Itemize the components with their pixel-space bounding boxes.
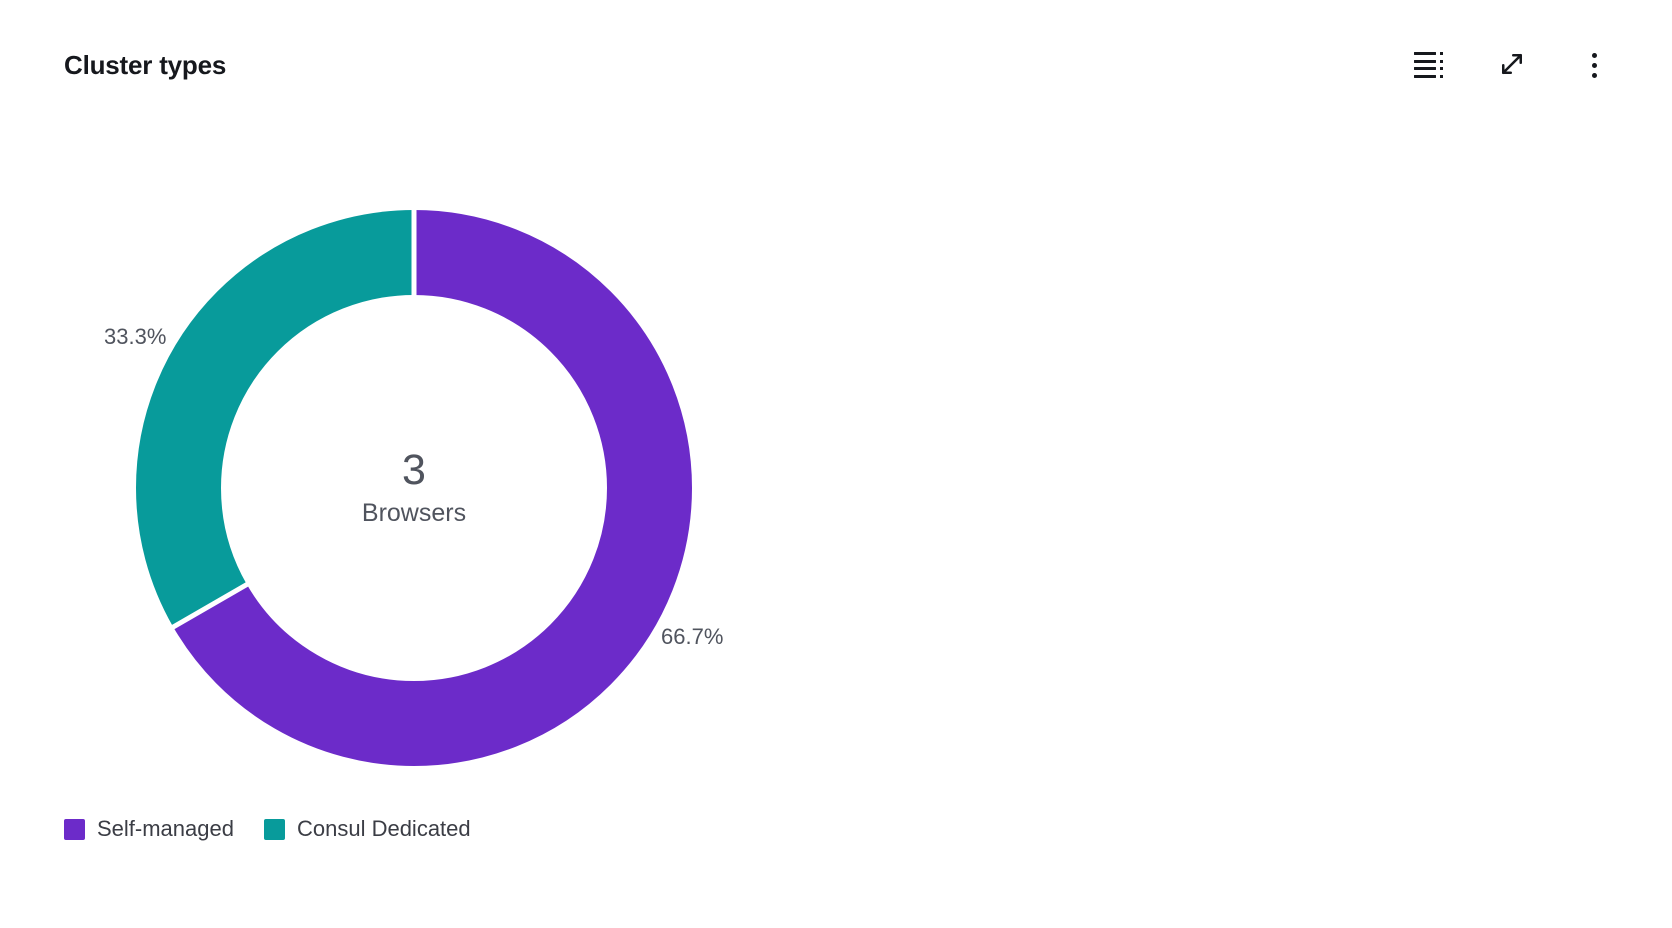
chart-area: 3 Browsers 33.3% 66.7%: [0, 130, 1672, 810]
page-title: Cluster types: [64, 52, 226, 78]
legend-label-self-managed: Self-managed: [97, 816, 234, 842]
list-icon: [1414, 52, 1446, 78]
legend-swatch-self-managed: [64, 819, 85, 840]
expand-button[interactable]: [1492, 45, 1532, 85]
chart-legend: Self-managed Consul Dedicated: [64, 816, 471, 842]
donut-chart: 3 Browsers: [136, 210, 692, 766]
kebab-vertical-icon: [1592, 53, 1597, 78]
legend-item-consul-dedicated[interactable]: Consul Dedicated: [264, 816, 471, 842]
slice-label-self-managed: 66.7%: [661, 624, 723, 650]
slice-label-consul-dedicated: 33.3%: [104, 324, 166, 350]
legend-item-self-managed[interactable]: Self-managed: [64, 816, 234, 842]
card-header: Cluster types: [0, 0, 1672, 130]
more-options-button[interactable]: [1574, 45, 1614, 85]
cluster-types-card: Cluster types: [0, 0, 1672, 928]
legend-swatch-consul-dedicated: [264, 819, 285, 840]
show-data-list-button[interactable]: [1410, 45, 1450, 85]
donut-svg: [136, 210, 692, 766]
header-actions: [1410, 45, 1614, 85]
legend-label-consul-dedicated: Consul Dedicated: [297, 816, 471, 842]
expand-diagonal-icon: [1497, 49, 1527, 82]
